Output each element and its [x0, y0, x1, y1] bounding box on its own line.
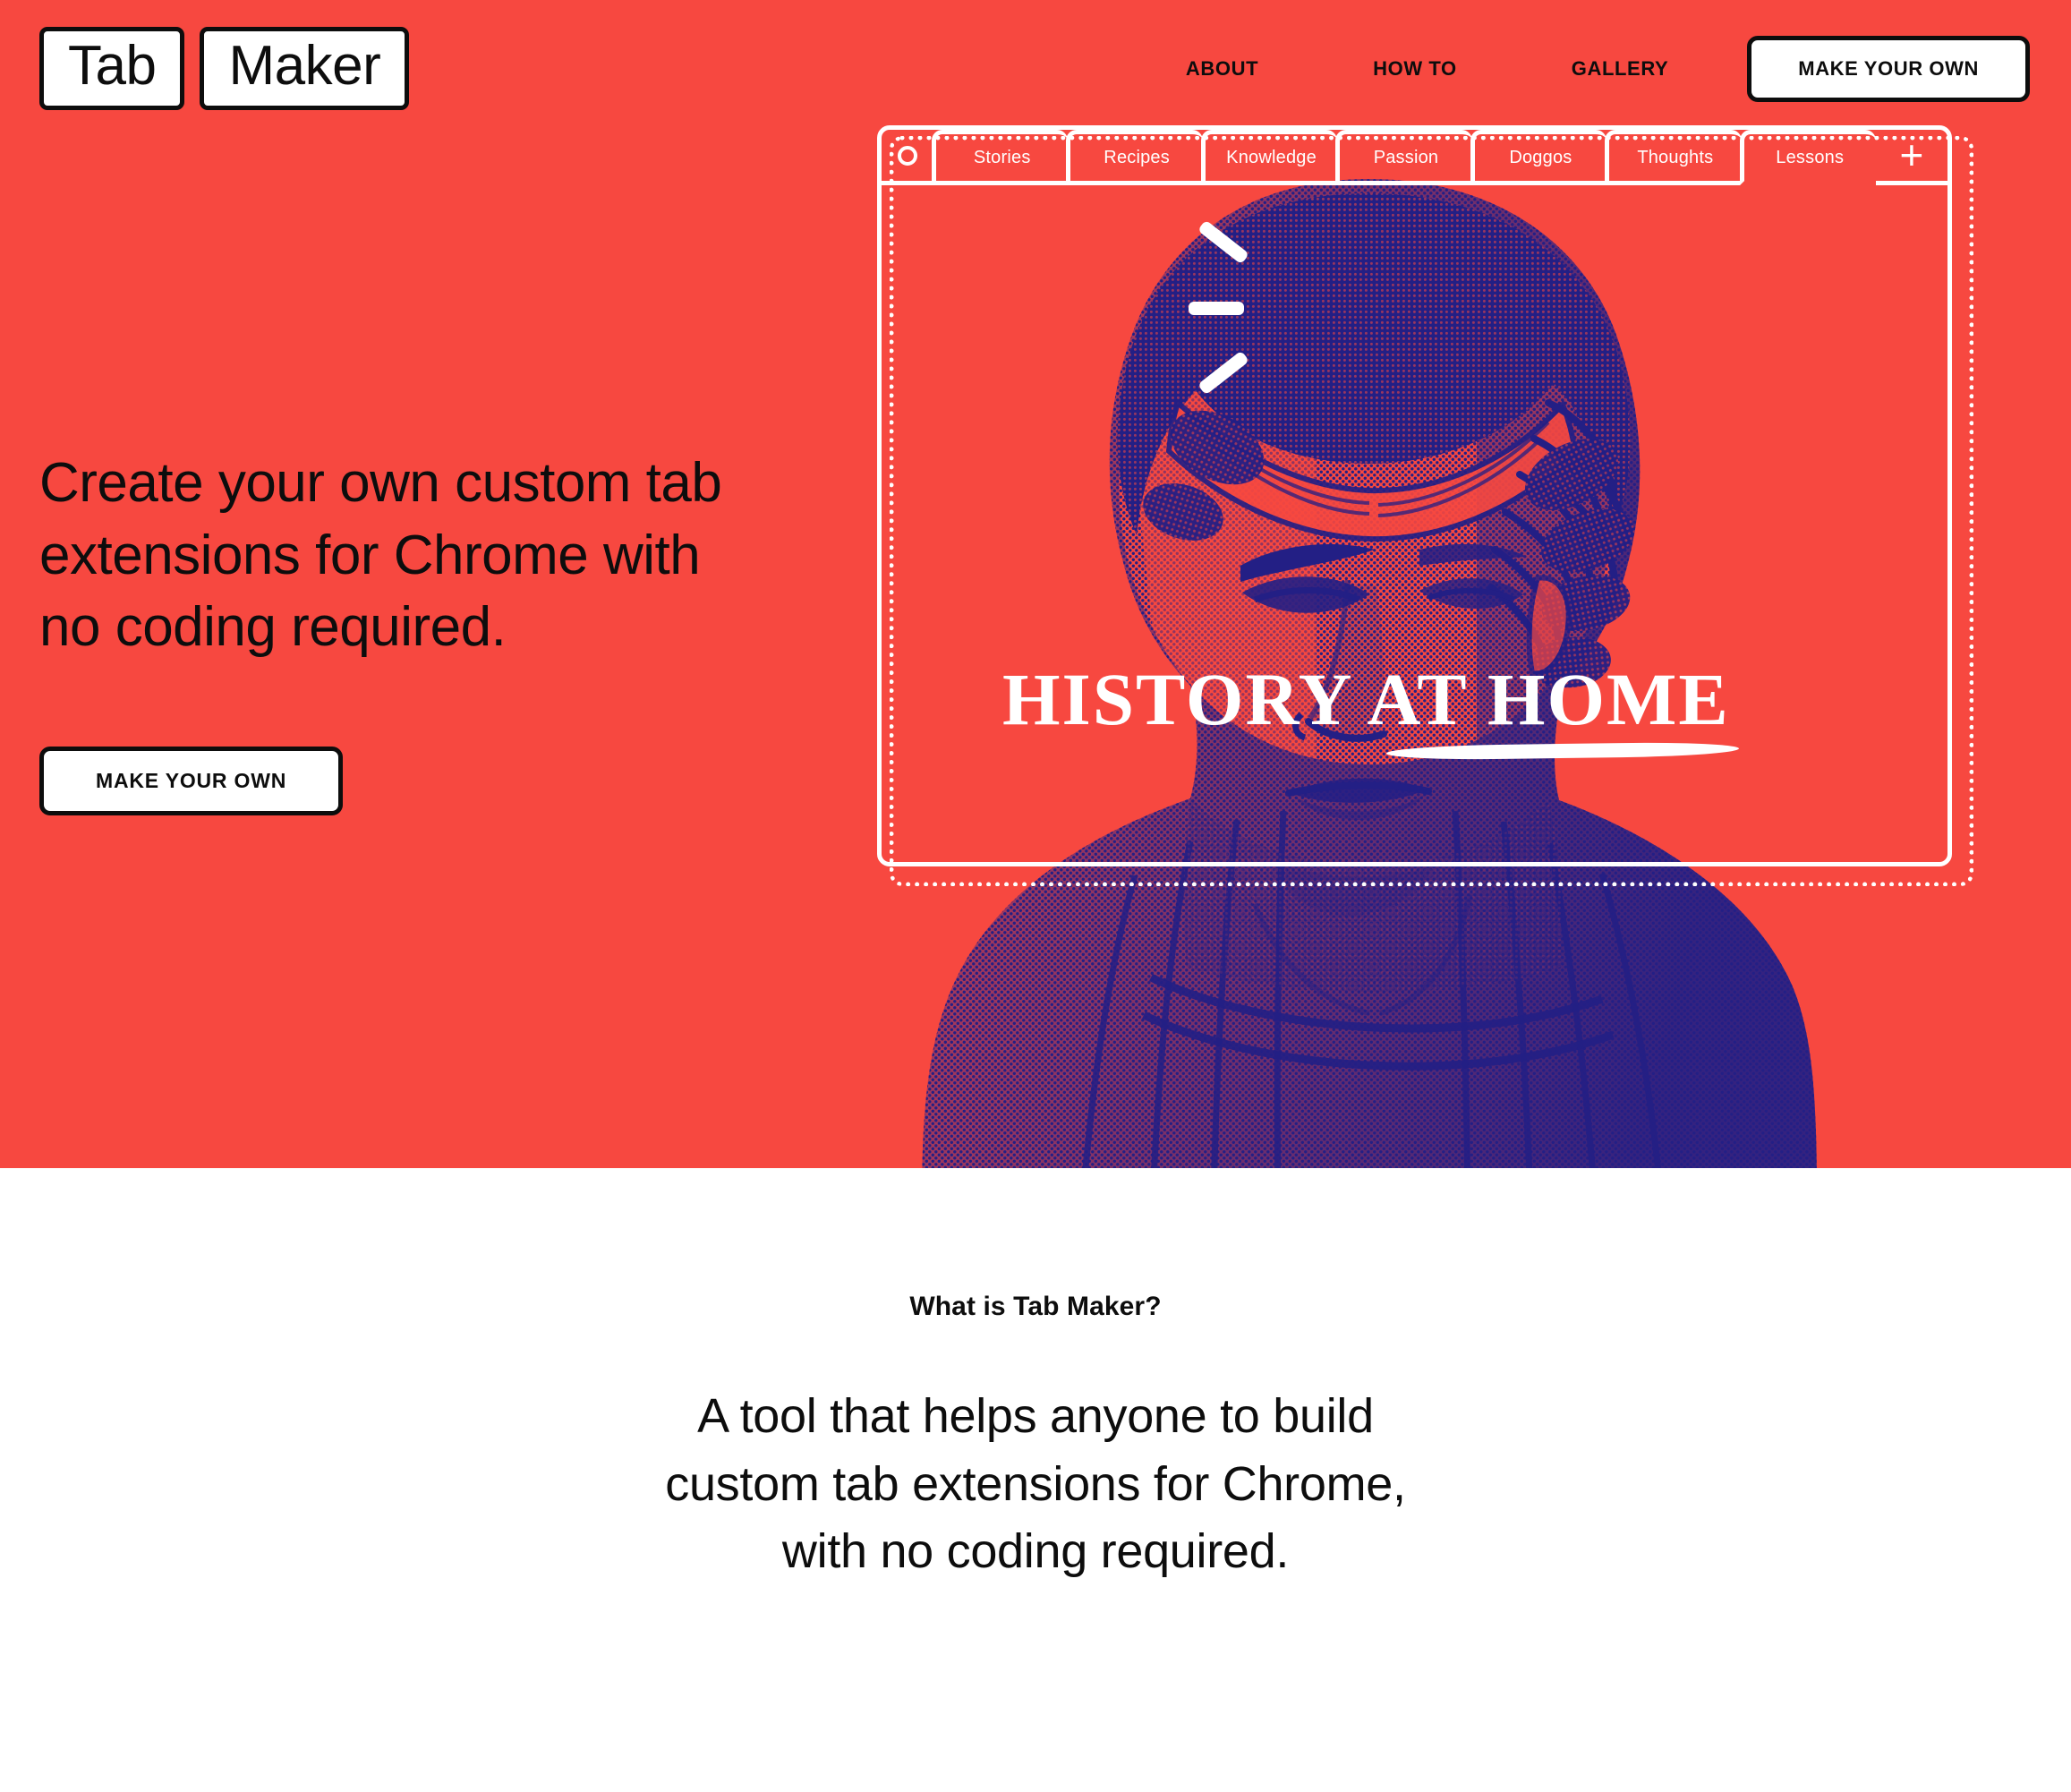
- hero-make-your-own-button[interactable]: MAKE YOUR OWN: [39, 747, 343, 815]
- about-section: What is Tab Maker? A tool that helps any…: [0, 1292, 2071, 1792]
- about-body-line-2: custom tab extensions for Chrome,: [665, 1457, 1405, 1511]
- nav-item-about[interactable]: ABOUT: [1129, 57, 1316, 81]
- hero-section: Tab Maker ABOUT HOW TO GALLERY MAKE YOUR…: [0, 0, 2071, 1168]
- browser-tab-doggos[interactable]: Doggos: [1470, 130, 1607, 181]
- landing-page: Tab Maker ABOUT HOW TO GALLERY MAKE YOUR…: [0, 0, 2071, 1792]
- browser-tab-thoughts[interactable]: Thoughts: [1605, 130, 1741, 181]
- hero-copy: Create your own custom tab extensions fo…: [39, 448, 791, 815]
- about-body-line-3: with no coding required.: [782, 1524, 1289, 1578]
- browser-tab-passion[interactable]: Passion: [1335, 130, 1471, 181]
- about-eyebrow: What is Tab Maker?: [0, 1292, 2071, 1322]
- sparkle-dash-middle: [1189, 302, 1244, 315]
- about-body: A tool that helps anyone to build custom…: [0, 1383, 2071, 1586]
- header-make-your-own-button[interactable]: MAKE YOUR OWN: [1747, 36, 2030, 102]
- about-body-line-1: A tool that helps anyone to build: [697, 1389, 1374, 1443]
- hero-headline-line-2: extensions for Chrome with: [39, 525, 700, 586]
- main-nav: ABOUT HOW TO GALLERY MAKE YOUR OWN: [1129, 36, 2030, 102]
- hero-artwork: Stories Recipes Knowledge Passion Doggos…: [877, 0, 2071, 1168]
- plus-icon[interactable]: +: [1876, 130, 1947, 181]
- browser-tab-lessons[interactable]: Lessons: [1740, 130, 1876, 185]
- logo-word-tab: Tab: [39, 27, 184, 110]
- hero-headline: Create your own custom tab extensions fo…: [39, 448, 791, 664]
- nav-item-how-to[interactable]: HOW TO: [1316, 57, 1514, 81]
- nav-item-gallery[interactable]: GALLERY: [1514, 57, 1726, 81]
- browser-tabstrip: Stories Recipes Knowledge Passion Doggos…: [882, 130, 1947, 185]
- circle-icon: [898, 146, 917, 166]
- browser-tab-knowledge[interactable]: Knowledge: [1201, 130, 1337, 181]
- site-header: Tab Maker ABOUT HOW TO GALLERY MAKE YOUR…: [0, 0, 2071, 125]
- history-at-home-wordmark: HISTORY AT HOME: [1002, 662, 1730, 737]
- hero-headline-line-1: Create your own custom tab: [39, 452, 721, 514]
- sparkle-dash-bottom: [1197, 351, 1249, 396]
- logo-word-maker: Maker: [200, 27, 409, 110]
- logo[interactable]: Tab Maker: [39, 27, 409, 110]
- browser-tab-stories[interactable]: Stories: [932, 130, 1068, 181]
- hero-headline-line-3: no coding required.: [39, 596, 506, 658]
- browser-tab-recipes[interactable]: Recipes: [1066, 130, 1202, 181]
- browser-window: Stories Recipes Knowledge Passion Doggos…: [877, 125, 1952, 866]
- wordmark-text: HISTORY AT HOME: [1002, 662, 1730, 737]
- browser-mockup: Stories Recipes Knowledge Passion Doggos…: [877, 125, 1973, 886]
- window-control[interactable]: [882, 130, 933, 181]
- sparkle-icon: [1190, 228, 1262, 398]
